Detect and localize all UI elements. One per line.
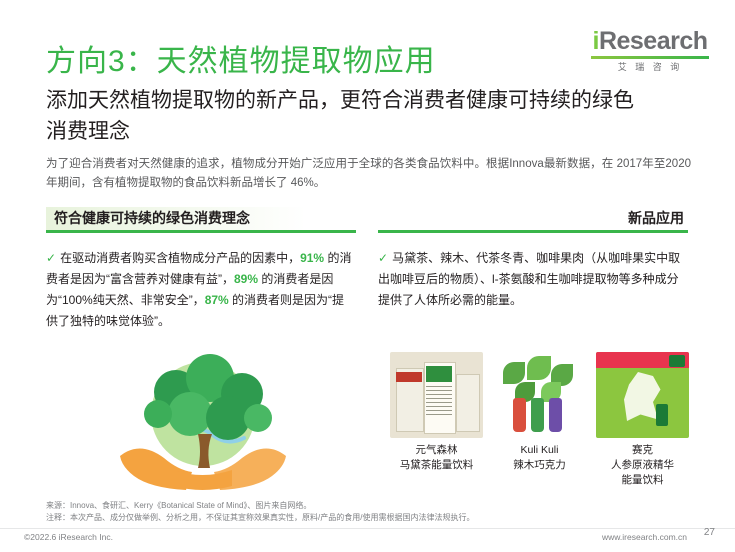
logo-chinese-subtitle: 艾 瑞 咨 询: [591, 62, 709, 73]
copyright-text: ©2022.6 iResearch Inc.: [24, 532, 113, 542]
product-description: 辣木巧克力: [493, 458, 586, 473]
stat-91: 91%: [300, 251, 324, 265]
website-url: www.iresearch.com.cn: [602, 532, 687, 542]
logo-research-text: Research: [599, 27, 708, 55]
right-bullet-text: 马黛茶、辣木、代茶冬青、咖啡果肉（从咖啡果实中取出咖啡豆后的物质）、l-茶氨酸和…: [378, 251, 680, 307]
stat-89: 89%: [234, 272, 258, 286]
product-card[interactable]: Kuli Kuli 辣木巧克力: [493, 352, 586, 488]
product-card[interactable]: 赛克 人参原液精华 能量饮料: [596, 352, 689, 488]
product-brand: 赛克: [596, 443, 689, 458]
product-card[interactable]: 元气森林 马黛茶能量饮料: [390, 352, 483, 488]
product-description: 人参原液精华: [596, 458, 689, 473]
intro-paragraph: 为了迎合消费者对天然健康的追求，植物成分开始广泛应用于全球的各类食品饮料中。根据…: [46, 155, 691, 193]
section-header-right-label: 新品应用: [628, 208, 684, 228]
product-caption: Kuli Kuli 辣木巧克力: [493, 443, 586, 473]
check-icon: ✓: [378, 251, 388, 265]
product-photo-kulikuli: [493, 352, 586, 438]
left-bullet-part1: 在驱动消费者购买含植物成分产品的因素中，: [60, 251, 300, 265]
product-photo-saike: [596, 352, 689, 438]
product-brand: Kuli Kuli: [493, 443, 586, 458]
tree-in-hands-illustration: [58, 352, 348, 492]
product-description: 马黛茶能量饮料: [390, 458, 483, 473]
hands-join-shape: [174, 470, 232, 490]
product-photo-yuanqisenlin: [390, 352, 483, 438]
right-column-content: ✓马黛茶、辣木、代茶冬青、咖啡果肉（从咖啡果实中取出咖啡豆后的物质）、l-茶氨酸…: [378, 248, 688, 311]
product-card-list: 元气森林 马黛茶能量饮料 Kuli Kuli 辣木巧克力: [390, 352, 690, 488]
left-bullet-text: 在驱动消费者购买含植物成分产品的因素中，91% 的消费者是因为“富含营养对健康有…: [46, 251, 351, 328]
product-description-2: 能量饮料: [596, 473, 689, 488]
check-icon: ✓: [46, 251, 56, 265]
stat-87: 87%: [205, 293, 229, 307]
footnote-source: 来源：Innova、食研汇、Kerry《Botanical State of M…: [46, 500, 606, 512]
product-brand: 元气森林: [390, 443, 483, 458]
logo-divider-bar: [591, 56, 709, 59]
section-header-left: 符合健康可持续的绿色消费理念: [46, 207, 356, 233]
section-header-right: 新品应用: [378, 207, 688, 233]
product-caption: 赛克 人参原液精华 能量饮料: [596, 443, 689, 488]
footnote-block: 来源：Innova、食研汇、Kerry《Botanical State of M…: [46, 500, 606, 524]
section-header-left-label: 符合健康可持续的绿色消费理念: [54, 208, 250, 228]
iresearch-logo: iResearch 艾 瑞 咨 询: [591, 28, 709, 73]
logo-wordmark: iResearch: [591, 28, 709, 54]
footnote-disclaimer: 注释：本次产品、成分仅做举例、分析之用，不保证其宣称效果真实性，原料/产品的食用…: [46, 512, 606, 524]
product-caption: 元气森林 马黛茶能量饮料: [390, 443, 483, 473]
page-subtitle: 添加天然植物提取物的新产品，更符合消费者健康可持续的绿色消费理念: [46, 85, 646, 147]
page-number: 27: [704, 527, 715, 538]
section-header-right-underline: [378, 230, 688, 233]
page-title: 方向3：天然植物提取物应用: [46, 36, 436, 80]
slide: iResearch 艾 瑞 咨 询 方向3：天然植物提取物应用 添加天然植物提取…: [0, 0, 735, 551]
left-column-content: ✓在驱动消费者购买含植物成分产品的因素中，91% 的消费者是因为“富含营养对健康…: [46, 248, 356, 332]
illustration-svg: [58, 352, 348, 492]
section-header-left-underline: [46, 230, 356, 233]
